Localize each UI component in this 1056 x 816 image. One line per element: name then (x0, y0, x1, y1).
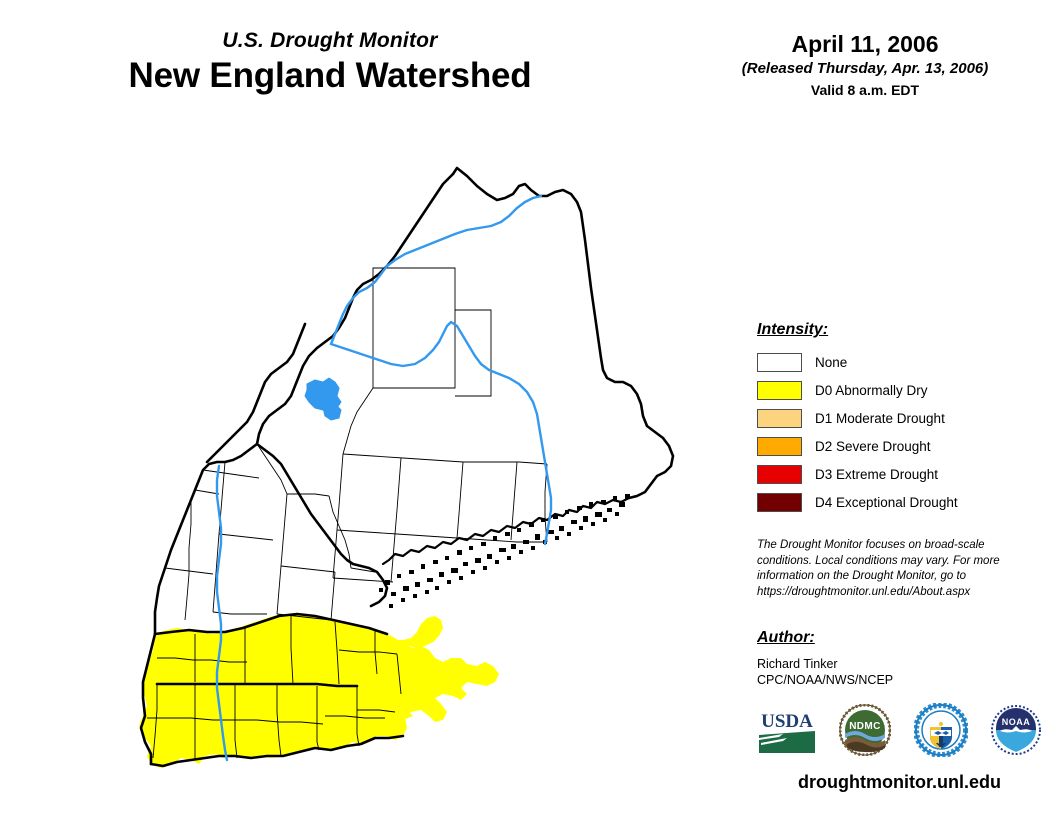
valid-time: Valid 8 a.m. EDT (700, 81, 1030, 99)
legend-swatch-d3 (757, 465, 802, 484)
valid-date: April 11, 2006 (700, 30, 1030, 58)
svg-text:NOAA: NOAA (1002, 717, 1031, 727)
legend-item-d0[interactable]: D0 Abnormally Dry (757, 376, 1037, 404)
author-affiliation: CPC/NOAA/NWS/NCEP (757, 672, 1037, 688)
page-title: New England Watershed (0, 56, 660, 96)
header-left: U.S. Drought Monitor New England Watersh… (0, 28, 660, 96)
legend-swatch-d2 (757, 437, 802, 456)
unl-seal-logo[interactable] (914, 703, 968, 762)
legend-label-d3: D3 Extreme Drought (815, 466, 938, 483)
legend-item-none[interactable]: None (757, 348, 1037, 376)
legend-swatch-d4 (757, 493, 802, 512)
legend-label-d1: D1 Moderate Drought (815, 410, 945, 427)
intensity-legend: Intensity: None D0 Abnormally Dry D1 Mod… (757, 320, 1037, 516)
site-url[interactable]: droughtmonitor.unl.edu (757, 770, 1042, 794)
legend-item-d3[interactable]: D3 Extreme Drought (757, 460, 1037, 488)
author-name: Richard Tinker (757, 656, 1037, 672)
legend-label-none: None (815, 354, 847, 371)
legend-item-d4[interactable]: D4 Exceptional Drought (757, 488, 1037, 516)
svg-text:USDA: USDA (761, 711, 813, 732)
new-england-watershed-map[interactable] (95, 150, 735, 800)
d0-drought-area (139, 614, 499, 768)
drought-map[interactable] (95, 150, 735, 800)
partner-logos: USDA NDMC (757, 703, 1042, 761)
author-block: Author: Richard Tinker CPC/NOAA/NWS/NCEP (757, 628, 1037, 688)
legend-title: Intensity: (757, 320, 1037, 340)
svg-text:NDMC: NDMC (850, 721, 882, 732)
penobscot-river (331, 322, 551, 544)
released-date: (Released Thursday, Apr. 13, 2006) (700, 59, 1030, 79)
program-subtitle: U.S. Drought Monitor (0, 28, 660, 54)
header-right: April 11, 2006 (Released Thursday, Apr. … (700, 30, 1030, 99)
saint-john-river (387, 196, 541, 266)
ndmc-logo[interactable]: NDMC (839, 704, 891, 761)
legend-item-d1[interactable]: D1 Moderate Drought (757, 404, 1037, 432)
legend-item-d2[interactable]: D2 Severe Drought (757, 432, 1037, 460)
legend-label-d2: D2 Severe Drought (815, 438, 931, 455)
legend-swatch-none (757, 353, 802, 372)
legend-swatch-d0 (757, 381, 802, 400)
legend-label-d0: D0 Abnormally Dry (815, 382, 928, 399)
legend-label-d4: D4 Exceptional Drought (815, 494, 958, 511)
usda-logo[interactable]: USDA (757, 705, 817, 760)
disclaimer-text: The Drought Monitor focuses on broad-sca… (757, 538, 1019, 600)
legend-swatch-d1 (757, 409, 802, 428)
author-heading: Author: (757, 628, 1037, 648)
noaa-logo[interactable]: NOAA (990, 704, 1042, 761)
